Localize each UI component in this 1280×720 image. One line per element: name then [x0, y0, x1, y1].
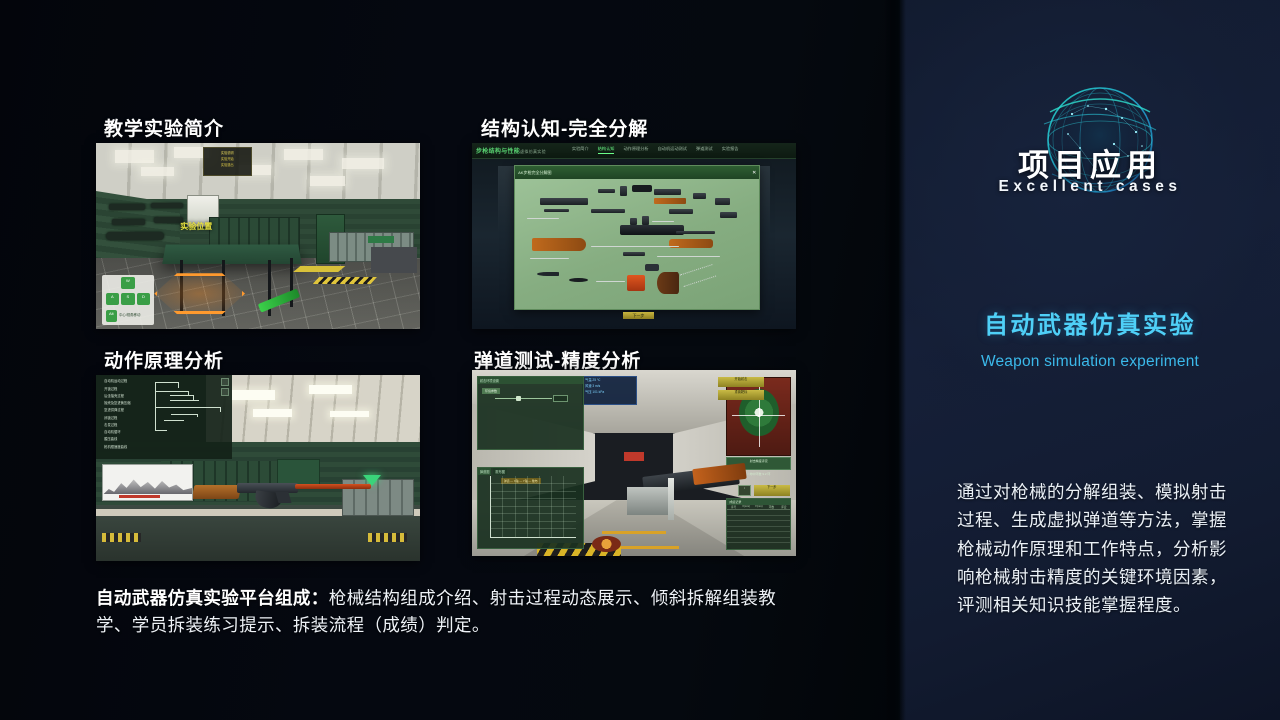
section-title-2: 结构认知-完全分解 [481, 114, 648, 141]
app-navbar: 步枪结构与性能虚拟仿真实验 实验简介 结构认知 动作原理分析 自动机运动测试 弹… [472, 143, 796, 159]
rifle-stock [192, 485, 242, 499]
lane-stripe [602, 531, 667, 533]
section-title-1: 教学实验简介 [104, 114, 224, 141]
part-pin [530, 258, 569, 259]
panel-title-cn: 自动武器仿真实验 [900, 305, 1280, 340]
part-cleaning-rod [657, 256, 721, 257]
close-icon[interactable]: ✕ [752, 170, 756, 176]
value-input[interactable] [553, 395, 568, 402]
part-receiver-cover [540, 198, 589, 205]
panel-tag: 环境参数 [482, 388, 500, 394]
wall-rifle [151, 203, 183, 209]
rifle-model[interactable] [193, 468, 374, 509]
part-rod [591, 209, 625, 213]
analysis-item-2[interactable]: 后坐抽壳过程 [104, 393, 150, 400]
hazard-stripe [368, 533, 407, 542]
app-subtitle: 虚拟仿真实验 [520, 149, 546, 154]
analysis-item-5[interactable]: 闭锁过程 [104, 415, 150, 422]
chart-tab-1[interactable]: 散布图 [493, 468, 507, 475]
score-col-3: 环数 [765, 505, 778, 509]
part-small [598, 189, 615, 193]
caption-lead: 自动武器仿真实验平台组成： [96, 588, 329, 608]
panel-button-icon[interactable] [221, 388, 229, 396]
panel-title: 射击环境设置 [478, 377, 583, 384]
movement-key-hint: W A S D Alt 中心/视角移动 [102, 275, 154, 325]
slider-track[interactable] [495, 398, 553, 399]
rifle-barrel [295, 484, 371, 489]
panel-description: 通过对枪械的分解组装、模拟射击过程、生成虚拟弹道等方法，掌握枪械动作原理和工作特… [957, 478, 1243, 620]
crosshair-horizontal [732, 415, 785, 416]
chart-tab-0[interactable]: 弹道图 [478, 468, 492, 475]
score-col-0: 序号 [727, 505, 740, 509]
start-shooting-button[interactable]: 开始射击 [718, 377, 763, 386]
pressure-curve-chart [102, 464, 193, 501]
score-table[interactable]: 成绩记录 序号 X(mm) Y(mm) 环数 评定 [726, 498, 791, 550]
nav-item-0[interactable]: 实验简介 [572, 146, 589, 154]
app-title: 步枪结构与性能 [476, 149, 520, 155]
analysis-item-list: 自动机运动过程 开锁过程 后坐抽壳过程 抛壳及复进簧压缩 复进供弹过程 闭锁过程… [104, 378, 150, 451]
shooting-range-scene: 气温 25 ℃ 风速 3 m/s 气压 101 kPa 射击环境设置 环境参数 … [472, 370, 796, 556]
screenshot-teaching-intro[interactable]: 实验位置 实验说明 实验开始 实验退出 W A S D Alt 中心/视角移动 [96, 143, 420, 329]
scene-menu-item-2[interactable]: 实验退出 [207, 162, 248, 168]
panel-title-en: Weapon simulation experiment [900, 353, 1280, 371]
desk [371, 247, 416, 273]
part-gas-tube [654, 189, 681, 195]
analysis-item-7[interactable]: 自动机循环 [104, 429, 150, 436]
part-small [620, 186, 627, 196]
key-s: S [121, 293, 134, 305]
floor-marking [294, 266, 346, 272]
analysis-item-9[interactable]: 枪机框速度曲线 [104, 444, 150, 451]
score-col-2: Y(mm) [752, 505, 765, 509]
key-w: W [121, 277, 134, 289]
key-d: D [137, 293, 150, 305]
ceiling-light [284, 149, 323, 160]
spool [592, 536, 621, 553]
ceiling-light [310, 176, 346, 185]
analysis-item-6[interactable]: 击发过程 [104, 422, 150, 429]
screenshot-mechanism-analysis[interactable]: 自动机运动过程 开锁过程 后坐抽壳过程 抛壳及复进簧压缩 复进供弹过程 闭锁过程… [96, 375, 420, 561]
ceiling-light [141, 167, 173, 176]
mechanism-scene: 自动机运动过程 开锁过程 后坐抽壳过程 抛壳及复进簧压缩 复进供弹过程 闭锁过程… [96, 375, 420, 561]
ceiling-light [228, 390, 275, 400]
slider-thumb[interactable] [516, 396, 521, 401]
env-line-2: 气压 101 kPa [583, 389, 636, 395]
analysis-item-8[interactable]: 膛压曲线 [104, 436, 150, 443]
hazard-stripe [102, 533, 141, 542]
part-pin [652, 221, 674, 222]
part-upper-handguard [654, 198, 686, 204]
wall-rifle [109, 204, 145, 210]
panel-brand-en: Excellent cases [900, 178, 1280, 196]
key-a: A [106, 293, 119, 305]
part-small [693, 193, 705, 199]
green-cloth [368, 236, 394, 243]
disassembly-dialog[interactable]: AK步枪完全分解图 ✕ [514, 165, 760, 310]
part-small [645, 264, 660, 271]
nav-item-3[interactable]: 自动机运动测试 [658, 146, 687, 154]
analysis-item-0[interactable]: 自动机运动过程 [104, 378, 150, 385]
ceiling-light [342, 158, 384, 169]
part-magazine [657, 272, 679, 293]
analysis-item-4[interactable]: 复进供弹过程 [104, 407, 150, 414]
platform-composition-caption: 自动武器仿真实验平台组成：枪械结构组成介绍、射击过程动态展示、倾斜拆解组装教学、… [96, 585, 796, 639]
part-bolt-carrier [620, 225, 684, 235]
wall-gear [106, 232, 164, 239]
part-cleaning-rod [591, 246, 679, 247]
table-row [727, 538, 790, 544]
key-alt: Alt [106, 310, 117, 322]
app-nav-items: 实验简介 结构认知 动作原理分析 自动机运动测试 弹道测试 实验报告 [572, 146, 739, 154]
part-pin [596, 281, 625, 282]
sequence-diagram [153, 380, 229, 439]
dialog-title: AK步枪完全分解图 [518, 170, 551, 176]
hazard-stripe [313, 277, 377, 284]
dialog-titlebar: AK步枪完全分解图 ✕ [515, 166, 759, 179]
panel-button-icon[interactable] [221, 378, 229, 386]
part-small [569, 278, 589, 282]
part-pin [527, 218, 559, 219]
score-col-4: 评定 [778, 505, 791, 509]
key-hint-text: 中心/视角移动 [119, 312, 140, 317]
wall-rifle [112, 219, 144, 225]
part-rod [676, 231, 715, 235]
part-extractor [642, 216, 649, 225]
part-small [720, 212, 737, 218]
scene-menu[interactable]: 实验说明 实验开始 实验退出 [203, 147, 252, 177]
chart-axes [490, 476, 576, 538]
part-small [623, 252, 645, 256]
nav-item-1[interactable]: 结构认知 [598, 146, 615, 154]
section-title-3: 动作原理分析 [104, 346, 224, 373]
nav-item-4[interactable]: 弹道测试 [696, 146, 713, 154]
reset-target-button[interactable]: 重置靶标 [718, 390, 763, 399]
curve [103, 476, 192, 494]
nav-item-5[interactable]: 实验报告 [722, 146, 739, 154]
analysis-item-3[interactable]: 抛壳及复进簧压缩 [104, 400, 150, 407]
mount-post [668, 478, 674, 520]
ceiling-light [309, 385, 352, 394]
part-small [669, 209, 693, 213]
app-brand: 步枪结构与性能虚拟仿真实验 [476, 146, 546, 155]
curve-label-bar [119, 495, 160, 499]
ceiling [206, 375, 420, 449]
ceiling-light [115, 150, 154, 163]
slide-canvas: 教学实验简介 结构认知-完全分解 动作原理分析 弹道测试-精度分析 [0, 0, 1280, 720]
part-rod [544, 209, 568, 212]
part-firing-pin [630, 218, 637, 225]
part-small [537, 272, 559, 276]
ballistics-chart-panel[interactable]: 弹道图 散布图 弹道 — X轴 — Y轴 — 散布 [477, 467, 584, 549]
nav-item-2[interactable]: 动作原理分析 [623, 146, 648, 154]
score-col-1: X(mm) [740, 505, 753, 509]
rifle-grip [275, 492, 291, 503]
screenshot-structure-disassembly[interactable]: 步枪结构与性能虚拟仿真实验 实验简介 结构认知 动作原理分析 自动机运动测试 弹… [472, 143, 796, 329]
next-step-button[interactable]: 下一步 [623, 312, 655, 320]
part-spring [680, 264, 716, 287]
part-grip-orange [627, 275, 644, 291]
screenshot-ballistics-accuracy[interactable]: 气温 25 ℃ 风速 3 m/s 气压 101 kPa 射击环境设置 环境参数 … [472, 370, 796, 556]
armory-room-scene: 实验位置 实验说明 实验开始 实验退出 W A S D Alt 中心/视角移动 [96, 143, 420, 329]
part-small [715, 198, 730, 205]
environment-settings-panel[interactable]: 射击环境设置 环境参数 [477, 376, 584, 450]
ceiling-light [253, 409, 291, 416]
environment-readout: 气温 25 ℃ 风速 3 m/s 气压 101 kPa [582, 376, 637, 406]
part-handguard [532, 238, 586, 251]
section-title-4: 弹道测试-精度分析 [474, 346, 641, 373]
part-block [632, 185, 652, 192]
analysis-panel[interactable]: 自动机运动过程 开锁过程 后坐抽壳过程 抛壳及复进簧压缩 复进供弹过程 闭锁过程… [96, 375, 232, 459]
ceiling-light [330, 411, 368, 418]
hotspot-label: 实验位置 [180, 221, 212, 232]
analysis-item-1[interactable]: 开锁过程 [104, 386, 150, 393]
